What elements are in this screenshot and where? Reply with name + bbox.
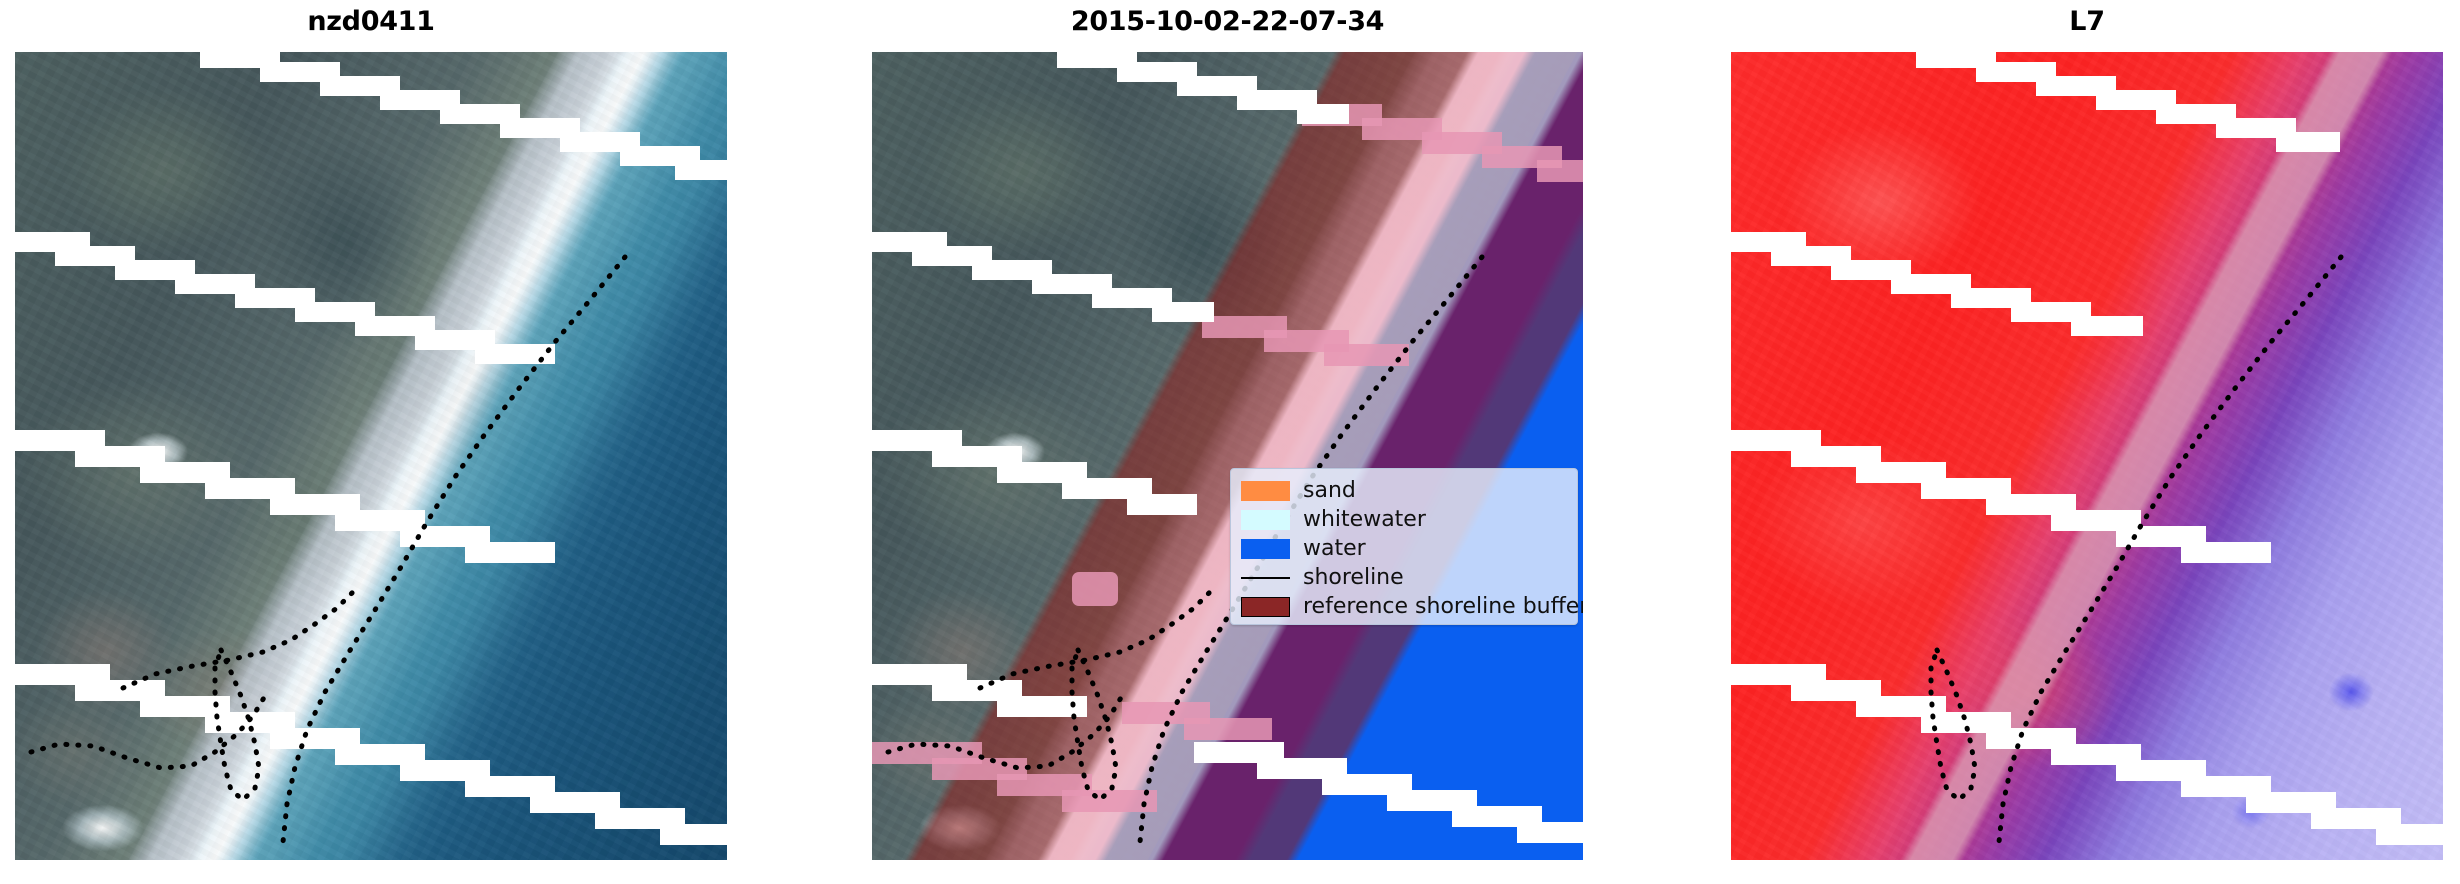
legend-item-whitewater: whitewater bbox=[1241, 505, 1567, 534]
panel-classified-axes[interactable]: sand whitewater water shoreline referenc… bbox=[872, 52, 1583, 860]
legend-label-sand: sand bbox=[1303, 480, 1356, 502]
shoreline-classified bbox=[872, 52, 1583, 860]
legend-label-shoreline: shoreline bbox=[1303, 567, 1404, 589]
panel-classified: 2015-10-02-22-07-34 bbox=[872, 0, 1583, 884]
panel-rgb-axes[interactable] bbox=[15, 52, 727, 860]
shoreline-line-icon bbox=[1241, 568, 1290, 588]
legend-item-water: water bbox=[1241, 534, 1567, 563]
sand-swatch-icon bbox=[1241, 481, 1290, 501]
panel-index-axes[interactable] bbox=[1731, 52, 2443, 860]
panel-index-title: L7 bbox=[1731, 6, 2443, 37]
panel-rgb: nzd0411 bbox=[15, 0, 727, 884]
shoreline-rgb bbox=[15, 52, 727, 860]
legend-item-shoreline: shoreline bbox=[1241, 563, 1567, 592]
figure-canvas: nzd0411 bbox=[0, 0, 2460, 884]
panel-index: L7 bbox=[1731, 0, 2443, 884]
legend-label-whitewater: whitewater bbox=[1303, 509, 1426, 531]
legend-item-reference-buffer: reference shoreline buffer bbox=[1241, 592, 1567, 621]
panel-classified-title: 2015-10-02-22-07-34 bbox=[872, 6, 1583, 37]
shoreline-index bbox=[1731, 52, 2443, 860]
panel-rgb-title: nzd0411 bbox=[15, 6, 727, 37]
legend-item-sand: sand bbox=[1241, 476, 1567, 505]
whitewater-swatch-icon bbox=[1241, 510, 1290, 530]
reference-buffer-swatch-icon bbox=[1241, 597, 1290, 617]
legend-label-reference-buffer: reference shoreline buffer bbox=[1303, 596, 1583, 618]
map-legend[interactable]: sand whitewater water shoreline referenc… bbox=[1230, 468, 1578, 625]
legend-label-water: water bbox=[1303, 538, 1366, 560]
water-swatch-icon bbox=[1241, 539, 1290, 559]
